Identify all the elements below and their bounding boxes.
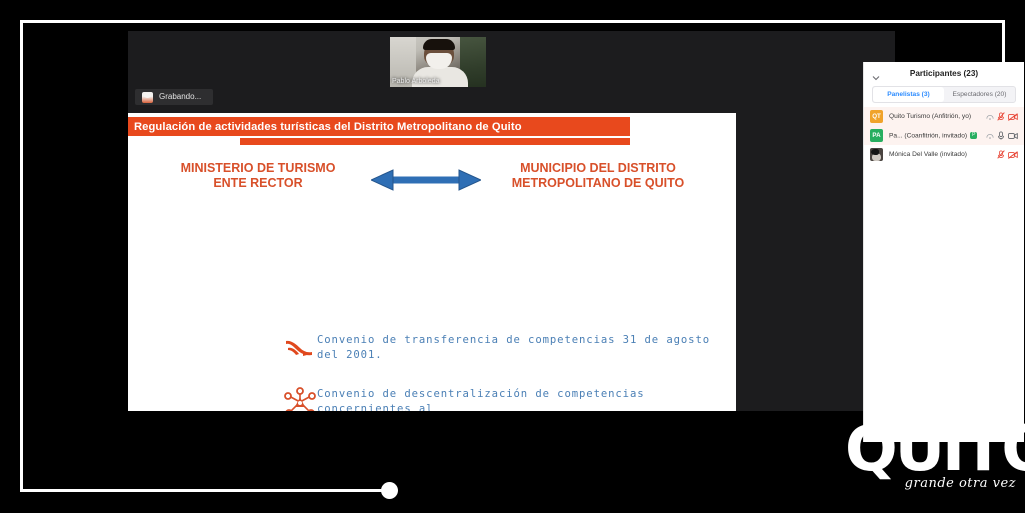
mic-muted-icon[interactable] bbox=[997, 150, 1005, 159]
double-arrow-icon bbox=[371, 169, 481, 191]
chevron-down-icon[interactable] bbox=[872, 69, 880, 77]
self-view-name-label: Pablo Arboleda bbox=[392, 77, 439, 86]
frame-bottom-line bbox=[20, 489, 385, 492]
screen: Pablo Arboleda Grabando... Regulación de… bbox=[0, 0, 1025, 513]
participant-icons bbox=[986, 112, 1018, 121]
video-on-icon[interactable] bbox=[1008, 132, 1018, 140]
screen-share-area: Pablo Arboleda Grabando... Regulación de… bbox=[128, 31, 736, 411]
presentation-slide: Regulación de actividades turísticas del… bbox=[128, 113, 736, 411]
participant-row-quito-turismo[interactable]: QT Quito Turismo (Anfitrión, yo) bbox=[864, 107, 1024, 126]
recording-icon bbox=[142, 92, 153, 103]
avatar: PA bbox=[870, 129, 883, 142]
presenter-badge: P bbox=[970, 132, 977, 139]
frame-top-line bbox=[20, 20, 1005, 23]
tab-panelistas[interactable]: Panelistas (3) bbox=[873, 87, 944, 102]
participants-tabs: Panelistas (3) Espectadores (20) bbox=[872, 86, 1016, 103]
video-muted-icon[interactable] bbox=[1008, 151, 1018, 159]
avatar: QT bbox=[870, 110, 883, 123]
quito-wordmark: QUITO bbox=[845, 418, 1020, 480]
slide-bullet-1: Convenio de transferencia de competencia… bbox=[283, 331, 736, 365]
tab-espectadores[interactable]: Espectadores (20) bbox=[944, 87, 1015, 102]
organization-left: MINISTERIO DE TURISMO ENTE RECTOR bbox=[158, 161, 358, 191]
avatar bbox=[870, 148, 883, 161]
slide-title: Regulación de actividades turísticas del… bbox=[128, 121, 522, 133]
network-hub-icon bbox=[283, 385, 317, 411]
reaction-icon[interactable] bbox=[986, 113, 994, 121]
participant-row-monica[interactable]: Mónica Del Valle (invitado) bbox=[864, 145, 1024, 164]
slide-bullet-1-text: Convenio de transferencia de competencia… bbox=[317, 331, 736, 362]
participant-name-text: Pa... (Coanfitrión, invitado) bbox=[889, 132, 967, 139]
participant-icons bbox=[986, 131, 1018, 140]
video-muted-icon[interactable] bbox=[1008, 113, 1018, 121]
quito-logo: QUITO grande otra vez bbox=[845, 418, 1020, 503]
participant-icons bbox=[997, 150, 1018, 159]
organization-right: MUNICIPIO DEL DISTRITO METROPOLITANO DE … bbox=[488, 161, 708, 191]
participant-name: Quito Turismo (Anfitrión, yo) bbox=[889, 113, 986, 120]
frame-dot-bottom bbox=[381, 482, 398, 499]
participants-list: QT Quito Turismo (Anfitrión, yo) bbox=[864, 107, 1024, 164]
meeting-window: Pablo Arboleda Grabando... Regulación de… bbox=[128, 31, 895, 411]
self-view-video[interactable]: Pablo Arboleda bbox=[390, 37, 486, 87]
participants-title: Participantes (23) bbox=[910, 69, 978, 78]
slide-title-bar: Regulación de actividades turísticas del… bbox=[128, 117, 630, 136]
ribbon-swoosh-icon bbox=[283, 331, 317, 365]
frame-left-line bbox=[20, 20, 23, 492]
participants-header: Participantes (23) bbox=[864, 62, 1024, 84]
recording-label: Grabando... bbox=[159, 92, 201, 102]
participants-panel: Participantes (23) Panelistas (3) Espect… bbox=[863, 62, 1024, 442]
participant-name: Mónica Del Valle (invitado) bbox=[889, 151, 997, 158]
organizations-row: MINISTERIO DE TURISMO ENTE RECTOR bbox=[128, 161, 736, 199]
slide-bullet-2: Convenio de descentralización de compete… bbox=[283, 385, 736, 411]
participant-name: Pa... (Coanfitrión, invitado)P bbox=[889, 132, 986, 139]
video-hair bbox=[423, 39, 455, 50]
slide-title-underbar bbox=[240, 138, 630, 145]
slide-bullet-2-text: Convenio de descentralización de compete… bbox=[317, 385, 736, 411]
participant-row-pablo[interactable]: PA Pa... (Coanfitrión, invitado)P bbox=[864, 126, 1024, 145]
mic-on-icon[interactable] bbox=[997, 131, 1005, 140]
reaction-icon[interactable] bbox=[986, 132, 994, 140]
quito-tagline: grande otra vez bbox=[905, 476, 1016, 491]
mic-muted-icon[interactable] bbox=[997, 112, 1005, 121]
recording-indicator[interactable]: Grabando... bbox=[135, 89, 213, 105]
